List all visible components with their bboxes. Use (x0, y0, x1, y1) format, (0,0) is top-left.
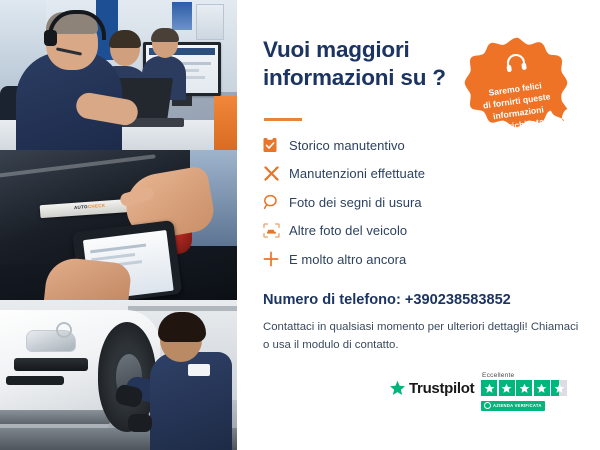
wall-poster (172, 2, 192, 30)
list-item: Manutenzioni effettuate (263, 160, 563, 189)
crossed-tools-icon (263, 165, 289, 182)
trustpilot-stars (481, 380, 567, 396)
mechanic-glove-lower (128, 414, 152, 432)
trustpilot-logo[interactable]: Trustpilot (389, 380, 474, 397)
verified-company-badge: AZIENDA VERIFICATA (481, 401, 545, 411)
mechanic-hair (158, 312, 206, 342)
car-lift-arm (0, 410, 110, 424)
verified-label: AZIENDA VERIFICATA (493, 403, 542, 408)
phone-number-line: Numero di telefono: +390238583852 (263, 292, 511, 308)
agent-headset-earcup (44, 30, 57, 46)
orange-foreground-object (214, 96, 237, 150)
list-item: Storico manutentivo (263, 131, 563, 160)
list-item: Altre foto del veicolo (263, 217, 563, 246)
feature-label: Manutenzioni effettuate (289, 166, 425, 181)
mechanic-wheel-inspection-photo (0, 300, 237, 450)
trustpilot-block[interactable]: Trustpilot Eccellente (389, 372, 585, 416)
vehicle-inspection-tablet-photo: AUTOCHECK (0, 150, 237, 300)
headset-icon (504, 52, 529, 75)
magnifier-icon (263, 194, 289, 210)
contact-subtext: Contattaci in qualsiasi momento per ulte… (263, 318, 583, 354)
call-center-agents-photo (0, 0, 237, 150)
page-title: Vuoi maggiori informazioni su ? (263, 36, 478, 92)
trustpilot-star-icon (389, 380, 406, 397)
car-grille (14, 358, 88, 371)
background-agent-1-hair (109, 30, 141, 48)
feature-label: E molto altro ancora (289, 252, 406, 267)
wall-poster-2 (196, 4, 224, 40)
title-underline-rule (264, 118, 302, 121)
list-item: E molto altro ancora (263, 245, 563, 274)
feature-label: Altre foto del veicolo (289, 223, 407, 238)
car-photo-frame-icon (263, 223, 289, 238)
garage-rail (128, 306, 237, 311)
car-brand-badge (56, 322, 72, 338)
feature-label: Storico manutentivo (289, 138, 405, 153)
content-panel: Vuoi maggiori informazioni su ? Saremo f… (237, 0, 600, 450)
list-item: Foto dei segni di usura (263, 188, 563, 217)
plus-icon (263, 251, 289, 267)
star-half-filled (551, 380, 567, 396)
photo-column: AUTOCHECK (0, 0, 237, 450)
trustpilot-rating-label: Eccellente (482, 372, 567, 379)
star-filled (481, 380, 497, 396)
mechanic-uniform-patch (188, 364, 210, 376)
star-filled (516, 380, 532, 396)
trustpilot-wordmark: Trustpilot (409, 380, 474, 397)
car-lower-grille (6, 376, 64, 385)
star-filled (534, 380, 550, 396)
trustpilot-rating: Eccellente (481, 372, 567, 414)
feature-list: Storico manutentivo Manutenzioni effettu… (263, 131, 563, 274)
checklist-clipboard-icon (263, 137, 289, 153)
verified-check-icon (484, 402, 491, 409)
promo-banner: AUTOCHECK (0, 0, 600, 450)
background-agent-2-hair (151, 28, 179, 42)
feature-label: Foto dei segni di usura (289, 195, 422, 210)
star-filled (499, 380, 515, 396)
